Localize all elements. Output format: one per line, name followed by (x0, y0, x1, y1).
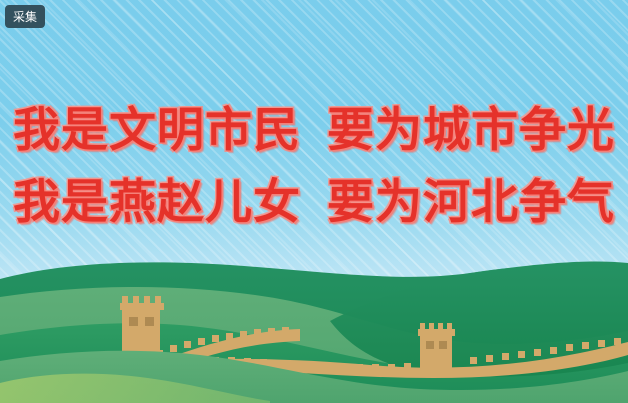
slogan-line-1-right: 要为城市争光 (327, 103, 615, 158)
banner-canvas: 我是文明市民要为城市争光 我是燕赵儿女要为河北争气 采集 (0, 0, 628, 403)
slogan-line-2-right: 要为河北争气 (327, 175, 615, 230)
landscape-illustration (0, 243, 628, 403)
great-wall-right-tower (418, 323, 455, 373)
capture-button[interactable]: 采集 (5, 5, 45, 28)
slogan-line-1: 我是文明市民要为城市争光 (0, 95, 628, 167)
slogan-text-block: 我是文明市民要为城市争光 我是燕赵儿女要为河北争气 (0, 95, 628, 239)
slogan-line-1-left: 我是文明市民 (13, 103, 301, 158)
slogan-line-2: 我是燕赵儿女要为河北争气 (0, 167, 628, 239)
slogan-line-2-left: 我是燕赵儿女 (13, 175, 301, 230)
